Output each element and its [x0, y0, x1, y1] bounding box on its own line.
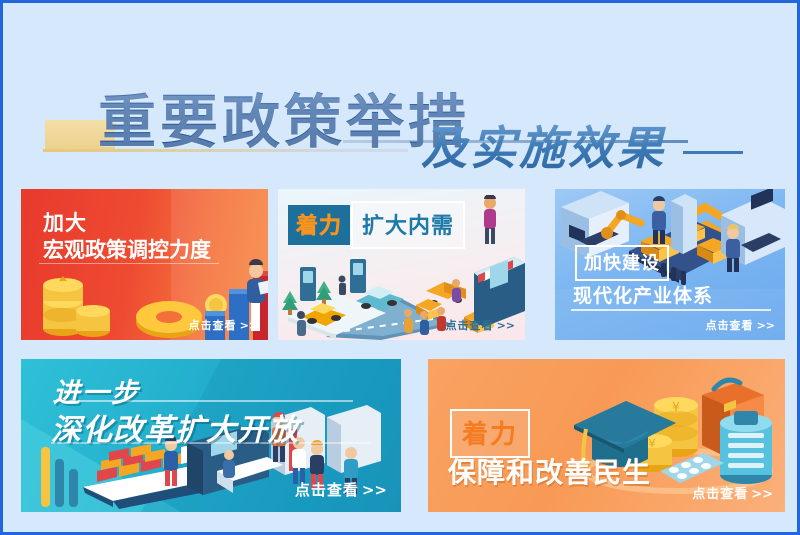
card1-cta-arrows: >>: [240, 319, 258, 332]
card-deepen-reform-opening-up[interactable]: 进一步 深化改革扩大开放 点击查看>>: [21, 359, 401, 512]
card2-cta-label: 点击查看: [446, 319, 494, 332]
card4-cta-label: 点击查看: [295, 481, 359, 499]
card5-cta-label: 点击查看: [692, 487, 748, 502]
card3-cta-arrows: >>: [757, 319, 775, 332]
card-safeguard-improve-livelihood[interactable]: ¥ ¥: [428, 359, 785, 512]
svg-text:¥: ¥: [649, 437, 656, 450]
poster-stage: 重要政策举措 及实施效果: [3, 3, 797, 532]
card2-badge: 着力: [288, 205, 350, 245]
card3-rule: [571, 309, 771, 311]
person-icon: [474, 195, 506, 247]
page-title-block: 重要政策举措 及实施效果: [3, 37, 797, 157]
card-macro-policy-regulation[interactable]: 加大 宏观政策调控力度 点击查看>>: [21, 189, 268, 340]
card4-cta-arrows: >>: [362, 481, 387, 499]
card1-line1: 加大: [43, 207, 87, 237]
card2-cta[interactable]: 点击查看>>: [446, 317, 515, 333]
card1-line2: 宏观政策调控力度: [43, 234, 211, 264]
card5-line2: 保障和改善民生: [448, 451, 651, 491]
page-title: 重要政策举措: [98, 75, 470, 159]
card1-cta[interactable]: 点击查看>>: [189, 317, 258, 333]
card-expand-domestic-demand[interactable]: 着力 扩大内需 点击查看>>: [278, 189, 525, 340]
card2-line2: 扩大内需: [351, 201, 465, 249]
page-subtitle: 及实施效果: [421, 112, 666, 178]
card5-cta[interactable]: 点击查看>>: [692, 483, 773, 502]
card5-cta-arrows: >>: [751, 487, 773, 502]
card4-cta[interactable]: 点击查看>>: [295, 479, 387, 500]
title-blue-tail-line: [683, 151, 743, 154]
card3-cta[interactable]: 点击查看>>: [706, 317, 775, 333]
card3-line1: 加快建设: [575, 245, 669, 281]
svg-text:¥: ¥: [672, 400, 680, 414]
card2-cta-arrows: >>: [497, 319, 515, 332]
card1-cta-label: 点击查看: [189, 319, 237, 332]
card3-cta-label: 点击查看: [706, 319, 754, 332]
card-modern-industrial-system[interactable]: 加快建设 现代化产业体系 点击查看>>: [555, 189, 785, 340]
card3-line2: 现代化产业体系: [573, 281, 713, 308]
card4-line2: 深化改革扩大开放: [51, 405, 299, 449]
